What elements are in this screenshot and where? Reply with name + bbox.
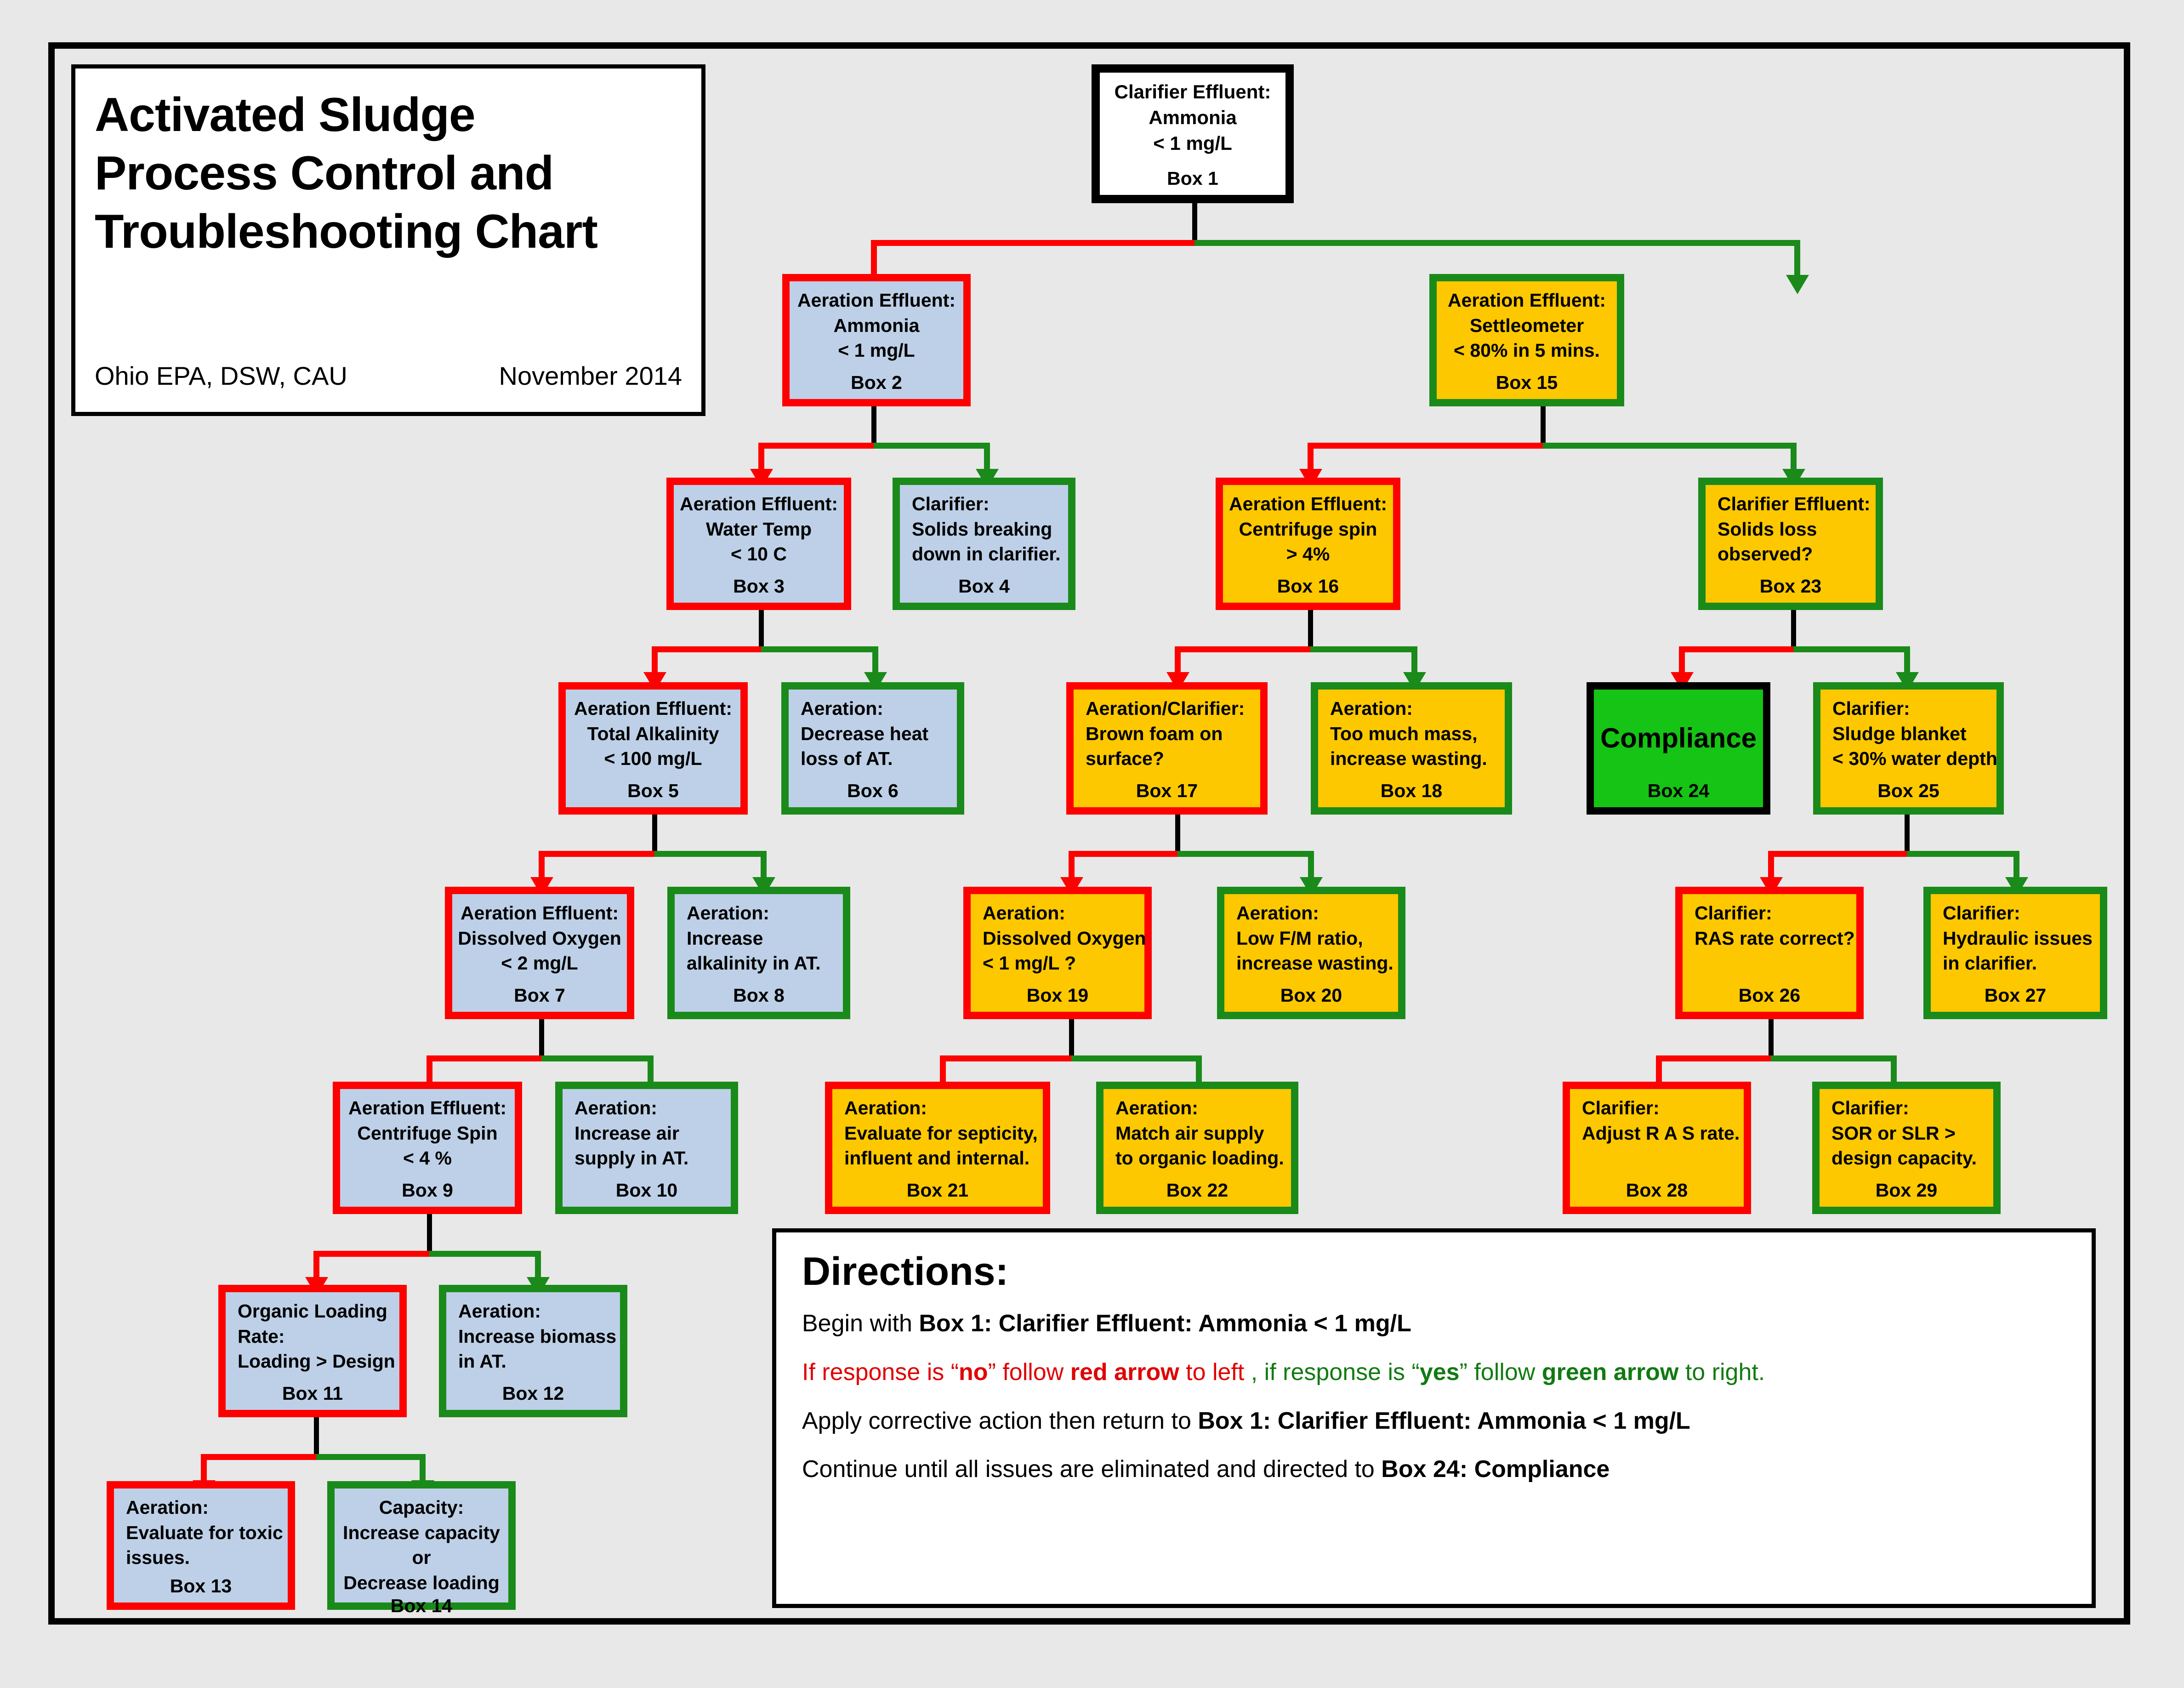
box-8[interactable]: Aeration: Increase alkalinity in AT. Box… xyxy=(667,887,850,1019)
dir2-c: to left xyxy=(1179,1359,1251,1386)
box-25[interactable]: Clarifier: Sludge blanket < 30% water de… xyxy=(1813,682,2004,815)
box-3[interactable]: Aeration Effluent: Water Temp < 10 C Box… xyxy=(666,478,851,610)
box-13-line-1: Aeration: xyxy=(114,1495,288,1520)
box-1-line-3: < 1 mg/L xyxy=(1100,131,1285,156)
box-18-line-2: Too much mass, xyxy=(1318,721,1505,747)
box-13-line-3: issues. xyxy=(114,1545,288,1570)
connector-stem-b5 xyxy=(652,814,657,855)
box-6[interactable]: Aeration: Decrease heat loss of AT. Box … xyxy=(781,682,964,815)
box-2-number: Box 2 xyxy=(790,372,963,399)
box-14[interactable]: Capacity: Increase capacity or Decrease … xyxy=(327,1481,516,1610)
box-16[interactable]: Aeration Effluent: Centrifuge spin > 4% … xyxy=(1216,478,1400,610)
dir2-d: , if response is “ xyxy=(1251,1359,1420,1386)
connector-stem-b25 xyxy=(1905,814,1910,855)
box-3-line-1: Aeration Effluent: xyxy=(674,491,844,517)
title-line-1: Activated Sludge xyxy=(95,86,682,144)
box-10-line-2: Increase air xyxy=(563,1121,731,1146)
box-27-number: Box 27 xyxy=(1931,985,2100,1012)
connector-h-green-b3 xyxy=(761,646,878,652)
connector-h-green-b16 xyxy=(1310,646,1417,652)
box-26[interactable]: Clarifier: RAS rate correct? Box 26 xyxy=(1675,887,1864,1019)
connector-stem-b19 xyxy=(1069,1018,1074,1060)
connector-stem-b7 xyxy=(539,1018,544,1060)
dir2-red-arrow: red arrow xyxy=(1070,1359,1179,1386)
connector-h-red-b5 xyxy=(539,851,655,857)
box-2-line-3: < 1 mg/L xyxy=(790,338,963,363)
box-24-number: Box 24 xyxy=(1594,780,1763,807)
connector-h-green-b25 xyxy=(1907,851,2019,857)
box-18[interactable]: Aeration: Too much mass, increase wastin… xyxy=(1311,682,1512,815)
arrowhead-green-b15 xyxy=(1786,275,1809,294)
box-1[interactable]: Clarifier Effluent: Ammonia < 1 mg/L Box… xyxy=(1092,64,1294,203)
connector-stem-b15 xyxy=(1541,405,1546,447)
box-29-line-2: SOR or SLR > xyxy=(1820,1121,1993,1146)
box-5[interactable]: Aeration Effluent: Total Alkalinity < 10… xyxy=(558,682,748,815)
box-18-line-3: increase wasting. xyxy=(1318,746,1505,771)
connector-h-green-b15 xyxy=(1543,443,1797,449)
box-4-line-1: Clarifier: xyxy=(900,491,1068,517)
box-19-line-2: Dissolved Oxygen xyxy=(971,926,1144,951)
box-16-line-1: Aeration Effluent: xyxy=(1223,491,1393,517)
connector-h-green-b2 xyxy=(874,443,990,449)
box-16-line-3: > 4% xyxy=(1223,542,1393,567)
directions-panel: Directions: Begin with Box 1: Clarifier … xyxy=(772,1228,2096,1608)
box-26-line-1: Clarifier: xyxy=(1683,901,1856,926)
dir3-prefix: Apply corrective action then return to xyxy=(802,1408,1198,1434)
connector-h-red-b15 xyxy=(1308,443,1543,449)
title-line-3: Troubleshooting Chart xyxy=(95,203,682,261)
box-29-line-3: design capacity. xyxy=(1820,1146,1993,1171)
box-5-line-3: < 100 mg/L xyxy=(566,746,740,771)
box-13-number: Box 13 xyxy=(114,1575,288,1602)
connector-stem-b2 xyxy=(871,405,876,447)
box-20[interactable]: Aeration: Low F/M ratio, increase wastin… xyxy=(1217,887,1405,1019)
connector-h-red-b3 xyxy=(652,646,762,652)
box-1-line-2: Ammonia xyxy=(1100,105,1285,131)
connector-h-red-b11 xyxy=(201,1454,317,1460)
connector-h-green-b19 xyxy=(1071,1055,1201,1061)
box-11-line-2: Rate: xyxy=(226,1324,399,1349)
box-21-line-1: Aeration: xyxy=(832,1095,1043,1121)
box-19-line-1: Aeration: xyxy=(971,901,1144,926)
box-20-line-2: Low F/M ratio, xyxy=(1224,926,1398,951)
box-28[interactable]: Clarifier: Adjust R A S rate. Box 28 xyxy=(1563,1082,1751,1214)
box-8-line-2: Increase xyxy=(675,926,843,951)
box-20-line-1: Aeration: xyxy=(1224,901,1398,926)
box-6-line-3: loss of AT. xyxy=(789,746,957,771)
box-21[interactable]: Aeration: Evaluate for septicity, influe… xyxy=(825,1082,1050,1214)
box-10-line-3: supply in AT. xyxy=(563,1146,731,1171)
dir4-prefix: Continue until all issues are eliminated… xyxy=(802,1456,1381,1483)
dir2-b: ” follow xyxy=(988,1359,1070,1386)
date-label: November 2014 xyxy=(499,361,682,391)
box-14-line-1: Capacity: xyxy=(335,1495,508,1520)
box-6-line-2: Decrease heat xyxy=(789,721,957,747)
directions-line-4: Continue until all issues are eliminated… xyxy=(802,1456,2066,1483)
box-15[interactable]: Aeration Effluent: Settleometer < 80% in… xyxy=(1429,274,1624,406)
box-4-line-3: down in clarifier. xyxy=(900,542,1068,567)
connector-stem-b9 xyxy=(427,1214,432,1255)
connector-stem-b1 xyxy=(1192,202,1197,244)
box-9-line-3: < 4 % xyxy=(340,1146,515,1171)
box-22[interactable]: Aeration: Match air supply to organic lo… xyxy=(1096,1082,1298,1214)
connector-h-red-b1 xyxy=(871,240,1195,246)
box-27-line-1: Clarifier: xyxy=(1931,901,2100,926)
box-2-line-1: Aeration Effluent: xyxy=(790,288,963,313)
box-15-line-2: Settleometer xyxy=(1437,313,1617,338)
box-19-number: Box 19 xyxy=(971,985,1144,1012)
box-17-line-3: surface? xyxy=(1074,746,1260,771)
dir2-f: to right. xyxy=(1678,1359,1765,1386)
box-8-line-1: Aeration: xyxy=(675,901,843,926)
box-9-line-2: Centrifuge Spin xyxy=(340,1121,515,1146)
box-27-line-3: in clarifier. xyxy=(1931,951,2100,976)
dir1-prefix: Begin with xyxy=(802,1310,919,1337)
box-20-number: Box 20 xyxy=(1224,985,1398,1012)
box-10-line-1: Aeration: xyxy=(563,1095,731,1121)
box-21-line-3: influent and internal. xyxy=(832,1146,1043,1171)
box-17-line-2: Brown foam on xyxy=(1074,721,1260,747)
box-7-line-3: < 2 mg/L xyxy=(452,951,627,976)
box-12-number: Box 12 xyxy=(446,1383,620,1410)
box-8-line-3: alkalinity in AT. xyxy=(675,951,843,976)
dir2-green-arrow: green arrow xyxy=(1542,1359,1679,1386)
box-4[interactable]: Clarifier: Solids breaking down in clari… xyxy=(893,478,1075,610)
box-14-line-2: Increase capacity xyxy=(335,1520,508,1545)
connector-stem-b26 xyxy=(1769,1018,1774,1060)
dir2-e: ” follow xyxy=(1460,1359,1542,1386)
connector-h-green-b11 xyxy=(316,1454,425,1460)
box-9-line-1: Aeration Effluent: xyxy=(340,1095,515,1121)
box-1-line-1: Clarifier Effluent: xyxy=(1100,79,1285,105)
box-14-number: Box 14 xyxy=(335,1595,508,1622)
box-6-number: Box 6 xyxy=(789,780,957,807)
box-11-line-1: Organic Loading xyxy=(226,1299,399,1324)
box-9[interactable]: Aeration Effluent: Centrifuge Spin < 4 %… xyxy=(333,1082,522,1214)
box-15-number: Box 15 xyxy=(1437,372,1617,399)
box-29[interactable]: Clarifier: SOR or SLR > design capacity.… xyxy=(1812,1082,2001,1214)
box-18-number: Box 18 xyxy=(1318,780,1505,807)
box-1-number: Box 1 xyxy=(1100,168,1285,195)
box-5-line-1: Aeration Effluent: xyxy=(566,696,740,721)
box-2-line-2: Ammonia xyxy=(790,313,963,338)
connector-stem-b16 xyxy=(1308,609,1313,650)
dir3-boxref: Box 1: Clarifier Effluent: Ammonia < 1 m… xyxy=(1198,1408,1690,1434)
box-21-line-2: Evaluate for septicity, xyxy=(832,1121,1043,1146)
box-5-number: Box 5 xyxy=(566,780,740,807)
box-27[interactable]: Clarifier: Hydraulic issues in clarifier… xyxy=(1923,887,2107,1019)
connector-h-green-b17 xyxy=(1177,851,1314,857)
box-22-line-1: Aeration: xyxy=(1103,1095,1291,1121)
box-6-line-1: Aeration: xyxy=(789,696,957,721)
directions-line-3: Apply corrective action then return to B… xyxy=(802,1408,2066,1435)
title-footer: Ohio EPA, DSW, CAU November 2014 xyxy=(95,361,682,391)
connector-h-green-b5 xyxy=(654,851,766,857)
title-card: Activated Sludge Process Control and Tro… xyxy=(71,64,705,416)
box-24-label: Compliance xyxy=(1594,722,1763,754)
connector-h-red-b2 xyxy=(758,443,874,449)
box-25-number: Box 25 xyxy=(1820,780,1996,807)
connector-stem-b3 xyxy=(759,609,764,650)
connector-h-green-b1 xyxy=(1194,240,1800,246)
box-4-line-2: Solids breaking xyxy=(900,517,1068,542)
title-line-2: Process Control and xyxy=(95,144,682,203)
box-2[interactable]: Aeration Effluent: Ammonia < 1 mg/L Box … xyxy=(782,274,971,406)
box-8-number: Box 8 xyxy=(675,985,843,1012)
box-23-number: Box 23 xyxy=(1706,576,1876,603)
box-28-line-1: Clarifier: xyxy=(1570,1095,1744,1121)
box-16-line-2: Centrifuge spin xyxy=(1223,517,1393,542)
connector-h-red-b19 xyxy=(940,1055,1072,1061)
box-17[interactable]: Aeration/Clarifier: Brown foam on surfac… xyxy=(1066,682,1268,815)
box-25-line-1: Clarifier: xyxy=(1820,696,1996,721)
connector-h-red-b17 xyxy=(1069,851,1178,857)
box-5-line-2: Total Alkalinity xyxy=(566,721,740,747)
box-19[interactable]: Aeration: Dissolved Oxygen < 1 mg/L ? Bo… xyxy=(963,887,1152,1019)
box-17-number: Box 17 xyxy=(1074,780,1260,807)
box-16-number: Box 16 xyxy=(1223,576,1393,603)
box-3-number: Box 3 xyxy=(674,576,844,603)
box-23-line-1: Clarifier Effluent: xyxy=(1706,491,1876,517)
connector-h-red-b7 xyxy=(427,1055,542,1061)
directions-heading: Directions: xyxy=(802,1249,2066,1295)
connector-h-red-b9 xyxy=(313,1251,430,1257)
box-7-line-2: Dissolved Oxygen xyxy=(452,926,627,951)
box-29-number: Box 29 xyxy=(1820,1180,1993,1207)
box-9-number: Box 9 xyxy=(340,1180,515,1207)
box-10[interactable]: Aeration: Increase air supply in AT. Box… xyxy=(555,1082,738,1214)
box-3-line-2: Water Temp xyxy=(674,517,844,542)
box-7-number: Box 7 xyxy=(452,985,627,1012)
box-28-line-2: Adjust R A S rate. xyxy=(1570,1121,1744,1146)
directions-line-1: Begin with Box 1: Clarifier Effluent: Am… xyxy=(802,1310,2066,1338)
box-14-line-3: or xyxy=(335,1545,508,1570)
box-22-number: Box 22 xyxy=(1103,1180,1291,1207)
connector-h-red-b16 xyxy=(1175,646,1311,652)
box-22-line-3: to organic loading. xyxy=(1103,1146,1291,1171)
box-13[interactable]: Aeration: Evaluate for toxic issues. Box… xyxy=(107,1481,295,1610)
connector-h-green-b9 xyxy=(429,1251,540,1257)
box-12[interactable]: Aeration: Increase biomass in AT. Box 12 xyxy=(439,1285,627,1417)
connector-stem-b23 xyxy=(1791,609,1796,650)
connector-h-red-b26 xyxy=(1656,1055,1771,1061)
connector-h-green-b26 xyxy=(1771,1055,1896,1061)
dir2-a: If response is “ xyxy=(802,1359,959,1386)
box-23-line-3: observed? xyxy=(1706,542,1876,567)
flowchart-canvas: Activated Sludge Process Control and Tro… xyxy=(0,0,2184,1688)
box-26-number: Box 26 xyxy=(1683,985,1856,1012)
box-12-line-3: in AT. xyxy=(446,1349,620,1374)
box-29-line-1: Clarifier: xyxy=(1820,1095,1993,1121)
box-11-number: Box 11 xyxy=(226,1383,399,1410)
box-11-line-3: Loading > Design xyxy=(226,1349,399,1374)
box-26-line-2: RAS rate correct? xyxy=(1683,926,1856,951)
connector-h-red-b25 xyxy=(1768,851,1907,857)
directions-line-2: If response is “no” follow red arrow to … xyxy=(802,1359,2066,1386)
box-19-line-3: < 1 mg/L ? xyxy=(971,951,1144,976)
connector-h-green-b23 xyxy=(1793,646,1910,652)
connector-h-green-b7 xyxy=(541,1055,653,1061)
box-28-number: Box 28 xyxy=(1570,1180,1744,1207)
box-3-line-3: < 10 C xyxy=(674,542,844,567)
connector-h-red-b23 xyxy=(1679,646,1794,652)
dir2-yes: yes xyxy=(1420,1359,1460,1386)
box-18-line-1: Aeration: xyxy=(1318,696,1505,721)
dir1-boxref: Box 1: Clarifier Effluent: Ammonia < 1 m… xyxy=(919,1310,1411,1337)
box-4-number: Box 4 xyxy=(900,576,1068,603)
box-17-line-1: Aeration/Clarifier: xyxy=(1074,696,1260,721)
box-14-line-4: Decrease loading xyxy=(335,1570,508,1596)
box-15-line-1: Aeration Effluent: xyxy=(1437,288,1617,313)
box-27-line-2: Hydraulic issues xyxy=(1931,926,2100,951)
box-13-line-2: Evaluate for toxic xyxy=(114,1520,288,1545)
box-22-line-2: Match air supply xyxy=(1103,1121,1291,1146)
dir2-no: no xyxy=(959,1359,988,1386)
box-7-line-1: Aeration Effluent: xyxy=(452,901,627,926)
box-21-number: Box 21 xyxy=(832,1180,1043,1207)
connector-stem-b17 xyxy=(1175,814,1180,855)
box-15-line-3: < 80% in 5 mins. xyxy=(1437,338,1617,363)
box-12-line-2: Increase biomass xyxy=(446,1324,620,1349)
box-11[interactable]: Organic Loading Rate: Loading > Design B… xyxy=(218,1285,407,1417)
box-23[interactable]: Clarifier Effluent: Solids loss observed… xyxy=(1698,478,1883,610)
dir4-boxref: Box 24: Compliance xyxy=(1381,1456,1610,1483)
box-23-line-2: Solids loss xyxy=(1706,517,1876,542)
box-10-number: Box 10 xyxy=(563,1180,731,1207)
box-25-line-3: < 30% water depth xyxy=(1820,746,1996,771)
box-20-line-3: increase wasting. xyxy=(1224,951,1398,976)
agency-label: Ohio EPA, DSW, CAU xyxy=(95,361,347,391)
connector-stem-b11 xyxy=(314,1417,319,1458)
box-12-line-1: Aeration: xyxy=(446,1299,620,1324)
box-24[interactable]: Compliance Box 24 xyxy=(1587,682,1770,815)
box-25-line-2: Sludge blanket xyxy=(1820,721,1996,747)
box-7[interactable]: Aeration Effluent: Dissolved Oxygen < 2 … xyxy=(445,887,634,1019)
